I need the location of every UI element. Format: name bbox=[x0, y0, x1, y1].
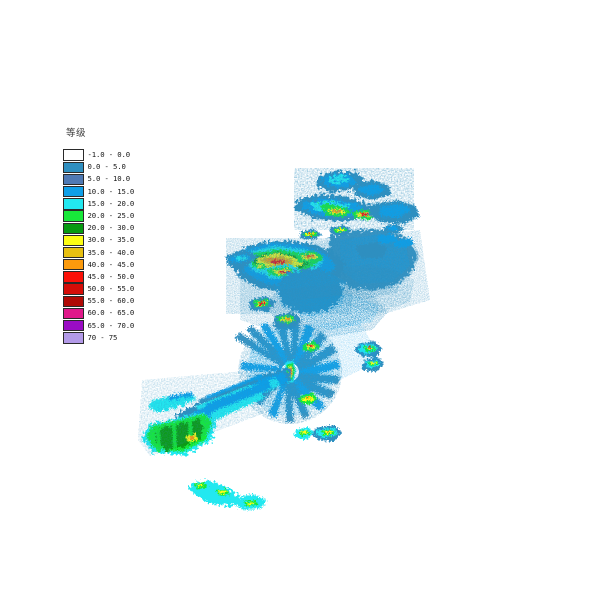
legend-row[interactable]: 0.0 - 5.0 bbox=[63, 161, 163, 173]
legend-row[interactable]: 40.0 - 45.0 bbox=[63, 259, 163, 271]
legend-range-label: 45.0 - 50.0 bbox=[88, 271, 135, 283]
legend-row[interactable]: 50.0 - 55.0 bbox=[63, 283, 163, 295]
legend-row[interactable]: 65.0 - 70.0 bbox=[63, 320, 163, 332]
legend-color-swatch bbox=[63, 332, 84, 343]
legend-color-swatch bbox=[63, 271, 84, 282]
legend-color-swatch bbox=[63, 186, 84, 197]
legend-range-label: 50.0 - 55.0 bbox=[88, 283, 135, 295]
echo-radar-site-spokes bbox=[234, 320, 342, 424]
echo-upper-mid-cells bbox=[300, 224, 404, 240]
legend-range-label: 15.0 - 20.0 bbox=[88, 198, 135, 210]
legend-color-swatch bbox=[63, 247, 84, 258]
legend-color-swatch bbox=[63, 296, 84, 307]
legend-row[interactable]: 20.0 - 30.0 bbox=[63, 222, 163, 234]
legend-range-label: 65.0 - 70.0 bbox=[88, 320, 135, 332]
legend-color-swatch bbox=[63, 162, 84, 173]
legend-color-swatch bbox=[63, 259, 84, 270]
legend-color-swatch bbox=[63, 308, 84, 319]
legend-row[interactable]: 5.0 - 10.0 bbox=[63, 173, 163, 185]
legend: 等级 -1.0 - 0.00.0 - 5.05.0 - 10.010.0 - 1… bbox=[63, 128, 163, 344]
echo-central-speckle bbox=[266, 266, 414, 338]
legend-range-label: 10.0 - 15.0 bbox=[88, 186, 135, 198]
legend-range-label: 30.0 - 35.0 bbox=[88, 234, 135, 246]
legend-row[interactable]: 35.0 - 40.0 bbox=[63, 247, 163, 259]
legend-row[interactable]: 60.0 - 65.0 bbox=[63, 307, 163, 319]
legend-range-label: -1.0 - 0.0 bbox=[88, 149, 130, 161]
legend-range-label: 0.0 - 5.0 bbox=[88, 161, 126, 173]
echo-northern-cluster bbox=[294, 168, 420, 230]
echo-southwest-band bbox=[138, 366, 300, 456]
legend-range-label: 35.0 - 40.0 bbox=[88, 247, 135, 259]
legend-row[interactable]: 15.0 - 20.0 bbox=[63, 198, 163, 210]
legend-color-swatch bbox=[63, 149, 84, 160]
legend-color-swatch bbox=[63, 174, 84, 185]
legend-range-label: 70 - 75 bbox=[88, 332, 118, 344]
legend-color-swatch bbox=[63, 235, 84, 246]
echo-midwest-cells bbox=[250, 296, 302, 330]
legend-color-swatch bbox=[63, 198, 84, 209]
header-divider bbox=[12, 70, 520, 72]
legend-range-label: 60.0 - 65.0 bbox=[88, 307, 135, 319]
legend-color-swatch bbox=[63, 210, 84, 221]
legend-row[interactable]: 45.0 - 50.0 bbox=[63, 271, 163, 283]
legend-row[interactable]: 10.0 - 15.0 bbox=[63, 186, 163, 198]
legend-color-swatch bbox=[63, 320, 84, 331]
legend-row[interactable]: 20.0 - 25.0 bbox=[63, 210, 163, 222]
legend-row[interactable]: 55.0 - 60.0 bbox=[63, 295, 163, 307]
legend-color-swatch bbox=[63, 283, 84, 294]
echo-mid-south-cells bbox=[294, 425, 342, 442]
legend-row[interactable]: -1.0 - 0.0 bbox=[63, 149, 163, 161]
legend-title: 等级 bbox=[66, 128, 163, 140]
legend-range-label: 20.0 - 30.0 bbox=[88, 222, 135, 234]
legend-range-label: 20.0 - 25.0 bbox=[88, 210, 135, 222]
echo-southern-isolated bbox=[188, 480, 266, 510]
legend-rows: -1.0 - 0.00.0 - 5.05.0 - 10.010.0 - 15.0… bbox=[63, 149, 163, 344]
echo-east-small-cells bbox=[354, 341, 384, 372]
echo-eastern-shield bbox=[328, 228, 420, 300]
legend-row[interactable]: 70 - 75 bbox=[63, 332, 163, 344]
legend-row[interactable]: 30.0 - 35.0 bbox=[63, 234, 163, 246]
legend-range-label: 40.0 - 45.0 bbox=[88, 259, 135, 271]
echo-background-speckle bbox=[240, 230, 430, 400]
echo-central-convective-line bbox=[226, 238, 352, 318]
legend-color-swatch bbox=[63, 223, 84, 234]
legend-range-label: 55.0 - 60.0 bbox=[88, 295, 135, 307]
radar-map-page: 等级 -1.0 - 0.00.0 - 5.05.0 - 10.010.0 - 1… bbox=[0, 0, 600, 600]
legend-range-label: 5.0 - 10.0 bbox=[88, 173, 130, 185]
